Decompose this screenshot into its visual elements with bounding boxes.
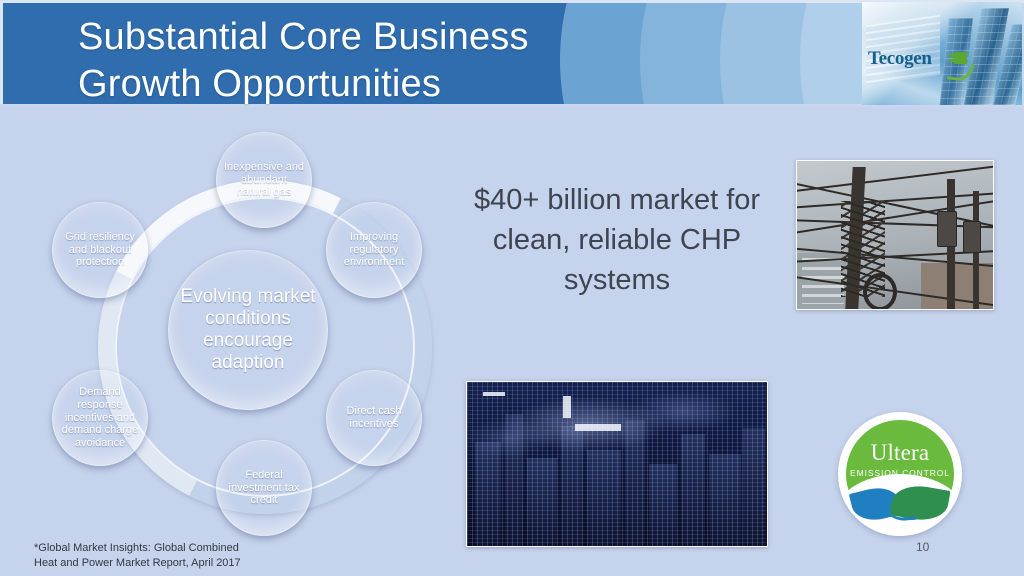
photo-power-lines-wire-coil (863, 273, 897, 310)
source-footnote-line-1: *Global Market Insights: Global Combined (34, 541, 334, 556)
node-direct-cash[interactable]: Direct cash incentives (326, 370, 422, 466)
node-natural-gas-label: Inexpensive and abundant natural gas (216, 161, 312, 199)
ultera-logo: Ultera EMISSION CONTROL (838, 412, 962, 536)
tecogen-logo: Tecogen (862, 2, 1022, 105)
ultera-tagline: EMISSION CONTROL (838, 468, 962, 478)
tecogen-wordmark: Tecogen (868, 48, 932, 70)
photo-city-night-glow (467, 382, 767, 546)
node-regulatory[interactable]: Improving regulatory environment (326, 202, 422, 298)
page-number: 10 (916, 540, 929, 554)
source-footnote: *Global Market Insights: Global Combined… (34, 541, 334, 570)
header-left-rule (0, 0, 3, 107)
node-regulatory-label: Improving regulatory environment (326, 231, 422, 269)
ultera-wordmark: Ultera (838, 440, 962, 466)
photo-transformer-2 (963, 221, 981, 253)
node-direct-cash-label: Direct cash incentives (326, 405, 422, 431)
page-title-line-2: Growth Opportunities (78, 61, 778, 108)
center-bubble[interactable]: Evolving market conditions encourage ada… (168, 250, 328, 410)
node-demand-response-label: Demand response incentives and demand ch… (52, 386, 148, 450)
center-bubble-label: Evolving market conditions encourage ada… (168, 286, 328, 374)
node-federal-tax-credit-label: Federal investment tax credit (216, 469, 312, 507)
evolving-market-conditions-cycle-diagram: Evolving market conditions encourage ada… (36, 122, 456, 542)
source-footnote-line-2: Heat and Power Market Report, April 2017 (34, 556, 334, 571)
market-size-headline: $40+ billion market for clean, reliable … (452, 180, 782, 300)
page-title-line-1: Substantial Core Business (78, 14, 778, 61)
node-federal-tax-credit[interactable]: Federal investment tax credit (216, 440, 312, 536)
photo-transformer-1 (937, 211, 957, 247)
node-grid-resiliency[interactable]: Grid resiliency and blackout protection (52, 202, 148, 298)
node-demand-response[interactable]: Demand response incentives and demand ch… (52, 370, 148, 466)
photo-power-lines (796, 160, 994, 310)
slide: Substantial Core Business Growth Opportu… (0, 0, 1024, 576)
node-grid-resiliency-label: Grid resiliency and blackout protection (52, 231, 148, 269)
page-title: Substantial Core Business Growth Opportu… (78, 14, 778, 108)
photo-city-night (466, 381, 768, 547)
node-natural-gas[interactable]: Inexpensive and abundant natural gas (216, 132, 312, 228)
